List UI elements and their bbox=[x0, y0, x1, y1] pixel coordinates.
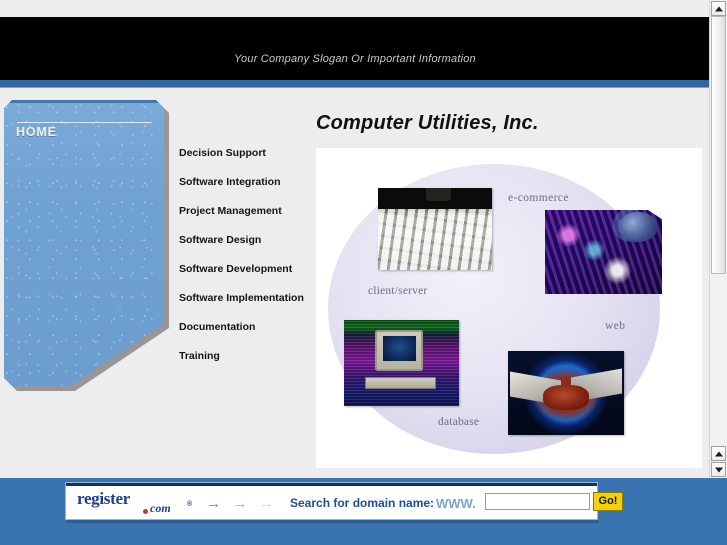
register-com-logo[interactable]: register com ® bbox=[77, 489, 197, 517]
register-wordmark: register bbox=[77, 489, 130, 509]
handshake-photo-grip bbox=[543, 385, 589, 410]
www-prefix-label: WWW. bbox=[436, 496, 476, 511]
up-arrow-icon bbox=[715, 6, 723, 11]
scroll-up-button[interactable] bbox=[711, 1, 726, 16]
menu-item-training[interactable]: Training bbox=[179, 351, 324, 361]
client-server-photo-screen bbox=[383, 336, 416, 361]
scroll-down-button[interactable] bbox=[711, 462, 726, 477]
header-divider-rule bbox=[0, 80, 710, 88]
keyboard-photo bbox=[378, 188, 492, 270]
company-slogan: Your Company Slogan Or Important Informa… bbox=[0, 53, 710, 65]
client-server-photo-keyboard bbox=[365, 377, 436, 389]
ecommerce-photo bbox=[545, 210, 662, 294]
keyboard-photo-keys bbox=[378, 209, 492, 270]
register-com-suffix: com bbox=[150, 501, 171, 516]
menu-item-decision-support[interactable]: Decision Support bbox=[179, 148, 324, 158]
menu-item-software-integration[interactable]: Software Integration bbox=[179, 177, 324, 187]
keyboard-photo-shadow bbox=[426, 188, 451, 201]
menu-item-software-development[interactable]: Software Development bbox=[179, 264, 324, 274]
register-com-banner-ad[interactable]: register com ® → → → Search for domain n… bbox=[65, 482, 598, 520]
down-arrow-icon bbox=[715, 467, 723, 472]
scroll-up-button-secondary[interactable] bbox=[711, 446, 726, 461]
home-underline-rule bbox=[17, 122, 152, 123]
ecommerce-photo-globe bbox=[618, 212, 658, 242]
client-server-photo-monitor bbox=[375, 330, 423, 370]
service-menu: Decision Support Software Integration Pr… bbox=[179, 148, 324, 380]
menu-item-software-design[interactable]: Software Design bbox=[179, 235, 324, 245]
arrow-right-icon: → bbox=[232, 496, 247, 511]
go-button[interactable]: Go! bbox=[593, 492, 623, 511]
handshake-photo bbox=[508, 351, 624, 435]
menu-item-software-implementation[interactable]: Software Implementation bbox=[179, 293, 324, 303]
menu-item-project-management[interactable]: Project Management bbox=[179, 206, 324, 216]
banner-drop-shadow bbox=[66, 520, 599, 523]
collage-label-web: web bbox=[605, 320, 625, 332]
collage-label-ecommerce: e-commerce bbox=[508, 192, 569, 204]
menu-item-documentation[interactable]: Documentation bbox=[179, 322, 324, 332]
banner-top-rule bbox=[66, 483, 597, 486]
arrow-right-icon: → bbox=[259, 496, 274, 511]
domain-search-label: Search for domain name: bbox=[290, 496, 434, 510]
client-server-photo bbox=[344, 320, 459, 406]
collage-label-client-server: client/server bbox=[368, 285, 427, 297]
home-link[interactable]: HOME bbox=[16, 125, 57, 139]
site-header-banner: Your Company Slogan Or Important Informa… bbox=[0, 17, 710, 80]
page-root: Your Company Slogan Or Important Informa… bbox=[0, 0, 727, 545]
register-dot-icon bbox=[143, 509, 148, 514]
collage-label-database: database bbox=[438, 416, 479, 428]
vertical-scrollbar[interactable] bbox=[709, 0, 727, 478]
banner-arrows: → → → bbox=[206, 495, 281, 513]
arrow-right-icon: → bbox=[206, 496, 221, 511]
top-margin-strip bbox=[0, 0, 710, 17]
registered-trademark-icon: ® bbox=[187, 501, 192, 508]
page-title: Computer Utilities, Inc. bbox=[316, 112, 539, 135]
services-collage: e-commerce client/server web database bbox=[316, 148, 702, 468]
scrollbar-thumb[interactable] bbox=[711, 16, 726, 274]
domain-search-input[interactable] bbox=[485, 493, 590, 510]
up-arrow-icon bbox=[715, 451, 723, 456]
